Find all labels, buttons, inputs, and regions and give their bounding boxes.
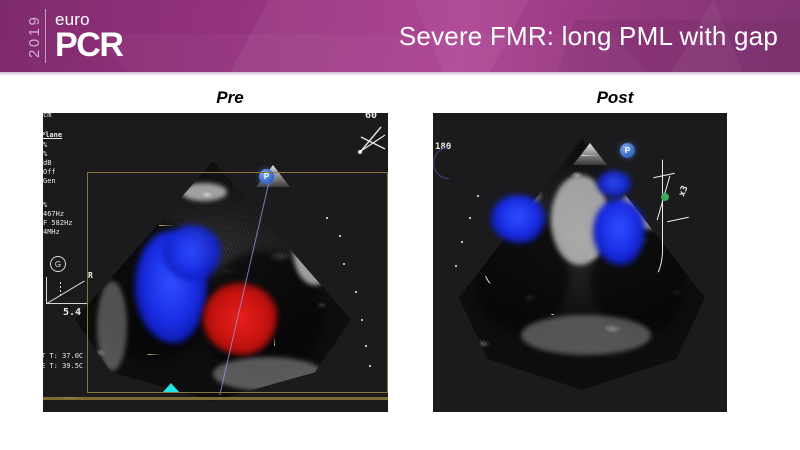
echo-pre-frame-top: [87, 172, 388, 173]
echo-pre-depth-dot: [361, 319, 363, 321]
echo-pre-gain-icon: G: [50, 256, 66, 272]
echo-post-depth-dot: [455, 265, 457, 267]
echo-pre-gain-value: 5.4: [63, 308, 81, 317]
echo-pre-depth-dot: [365, 345, 367, 347]
echo-post-blue-jet-1: [491, 195, 545, 243]
caption-pre: Pre: [140, 88, 320, 108]
echo-pre-frame-bottom: [87, 392, 388, 393]
echo-pre-gain-triangle: [46, 277, 87, 304]
echo-pre-probe-orientation-icon: [351, 125, 388, 163]
echo-pre-depth-dot: [326, 217, 328, 219]
echo-pre-param-off: Off: [43, 168, 56, 177]
logo-wordmark: euro PCR: [55, 6, 123, 66]
logo-euro-text: euro: [55, 11, 123, 28]
echo-pre-depth-dot: [343, 263, 345, 265]
echo-pre-prf-2: F 582Hz: [43, 219, 73, 228]
slide-title: Severe FMR: long PML with gap: [399, 0, 778, 72]
echo-pre-param-percent-3: %: [43, 201, 47, 210]
echo-pre-prf-1: 467Hz: [43, 210, 64, 219]
logo-divider: [45, 9, 46, 63]
echo-pre-temp-tip: T T: 37.0C: [43, 352, 83, 361]
echo-post-bright-4: [521, 315, 651, 355]
caption-post: Post: [520, 88, 710, 108]
echo-post-depth-dot: [477, 195, 479, 197]
header-banner: 2019 euro PCR Severe FMR: long PML with …: [0, 0, 800, 72]
echo-pre-frame-right: [387, 172, 388, 393]
echo-pre-right-marker: R: [88, 271, 93, 280]
echo-pre-depth-dot: [339, 235, 341, 237]
echo-post-blue-jet-2: [593, 199, 645, 265]
echo-pre-frame-left: [87, 172, 88, 393]
echo-image-pre: P cm Plane % % dB Off Gen % 467Hz F 582H…: [43, 113, 388, 412]
echo-pre-param-gen: Gen: [43, 177, 56, 186]
echo-pre-red-jet: [203, 283, 277, 355]
echo-pre-blue-jet-2: [163, 225, 221, 281]
echo-post-depth-dot: [461, 241, 463, 243]
echo-pre-teal-arrow: [163, 383, 179, 392]
echo-pre-param-db: dB: [43, 159, 51, 168]
logo-year: 2019: [22, 6, 43, 66]
europcr-logo: 2019 euro PCR: [22, 6, 123, 66]
echo-pre-param-percent-1: %: [43, 141, 47, 150]
logo-pcr-text: PCR: [55, 29, 123, 62]
echo-pre-depth-dot: [355, 291, 357, 293]
echo-pre-frequency: 4MHz: [43, 228, 60, 237]
echo-post-depth-dot: [469, 217, 471, 219]
echo-post-caliper-point[interactable]: [661, 193, 669, 201]
banner-shadow: [0, 72, 800, 76]
echo-pre-param-percent-2: %: [43, 150, 47, 159]
echo-pre-bright-4: [97, 281, 127, 371]
echo-pre-angle: 60: [365, 113, 377, 120]
echo-pre-depth-unit: cm: [43, 113, 51, 120]
echo-pre-frame-baseline: [43, 397, 388, 400]
echo-pre-temp-esoph: E T: 39.5C: [43, 362, 83, 371]
echo-post-blue-jet-3: [597, 171, 631, 197]
echo-image-post: 180 P x3: [433, 113, 727, 412]
echo-pre-mode: Plane: [43, 131, 62, 140]
echo-pre-gain-dots: [60, 282, 61, 298]
echo-post-probe-marker[interactable]: P: [620, 143, 635, 158]
echo-pre-depth-dot: [369, 365, 371, 367]
